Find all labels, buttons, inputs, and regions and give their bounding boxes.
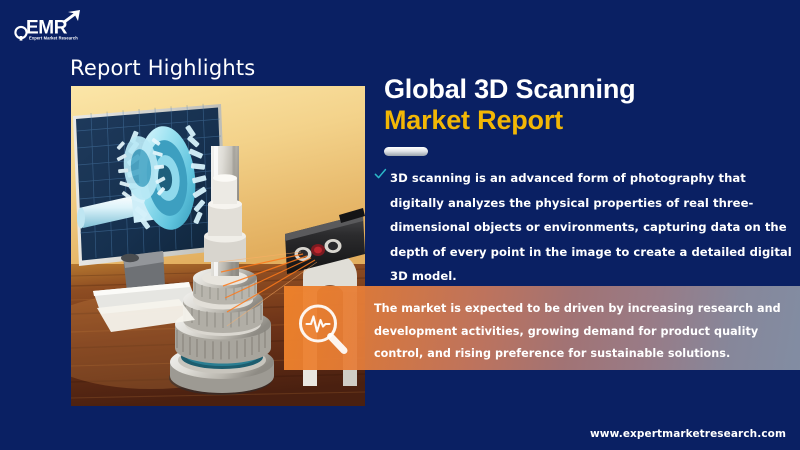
report-title-line-2: Market Report bbox=[384, 104, 794, 136]
slide-canvas: EMR Expert Market Research Report Highli… bbox=[0, 0, 800, 450]
divider-pill bbox=[384, 147, 428, 156]
highlight-bullet: 3D scanning is an advanced form of photo… bbox=[374, 166, 794, 289]
emr-logo[interactable]: EMR Expert Market Research bbox=[12, 8, 90, 42]
market-driver-panel: The market is expected to be driven by i… bbox=[284, 286, 800, 370]
emr-arrow-logo: EMR Expert Market Research bbox=[12, 8, 90, 42]
report-title-block: Global 3D Scanning Market Report bbox=[384, 74, 794, 136]
footer-website-url[interactable]: www.expertmarketresearch.com bbox=[590, 428, 786, 440]
page-title: Report Highlights bbox=[70, 56, 255, 80]
svg-text:Expert Market Research: Expert Market Research bbox=[29, 36, 78, 41]
highlight-bullet-text: 3D scanning is an advanced form of photo… bbox=[390, 166, 794, 289]
market-driver-text: The market is expected to be driven by i… bbox=[374, 298, 786, 366]
magnifier-analytics-icon bbox=[294, 300, 352, 358]
report-title-line-1: Global 3D Scanning bbox=[384, 74, 794, 104]
check-icon bbox=[374, 166, 390, 289]
